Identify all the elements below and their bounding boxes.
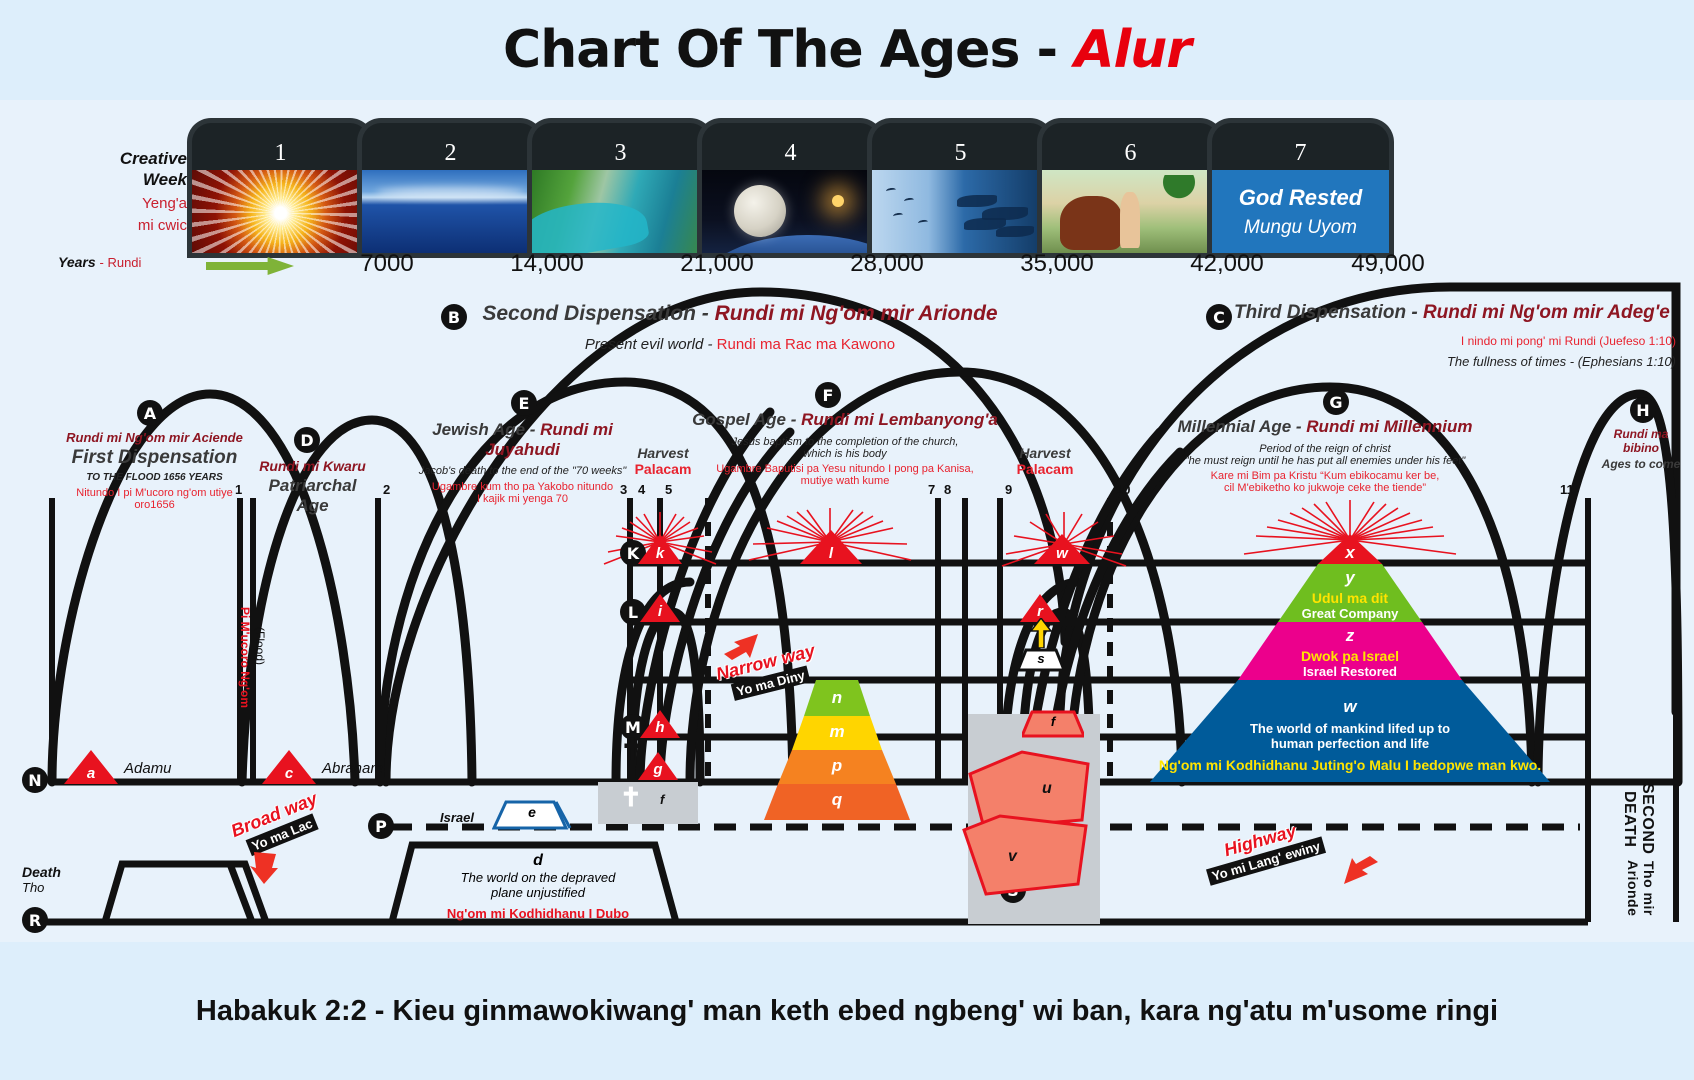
dispensation-a-title-al: Rundi mi Ng'om mir Aciende: [62, 430, 247, 445]
cross-icon-upper: ✝: [620, 736, 645, 766]
dispensation-h-text: Rundi ma bibino Ages to come: [1596, 427, 1686, 471]
cross-icon-lower: ✝: [620, 784, 642, 810]
column-number-7: 7: [928, 482, 935, 497]
harvest-label-1: Harvest Palacam: [618, 445, 708, 477]
year-tick-4: 28,000: [822, 250, 952, 278]
badge-a: A: [137, 400, 163, 426]
block-letter-v: v: [1008, 848, 1017, 866]
dispensation-e-sub-al-2: I kajik mi yenga 70: [400, 493, 645, 505]
god-rested-en: God Rested: [1239, 185, 1362, 211]
day-arch-2: 2: [357, 118, 544, 170]
creative-day-5: 5: [867, 118, 1054, 258]
dispensation-a-title-en: First Dispensation: [62, 447, 247, 469]
triangle-c-abraham: c: [262, 750, 316, 784]
gospel-band-q: q: [728, 788, 946, 812]
dispensation-c-title: Third Dispensation - Rundi mi Ng'om mir …: [1234, 302, 1684, 324]
god-rested-panel: God Rested Mungu Uyom: [1212, 170, 1389, 253]
dispensation-b-title: Second Dispensation - Rundi mi Ng'om mir…: [470, 302, 1010, 326]
millennial-pyramid: x y Udul ma dit Great Company z Dwok pa …: [1150, 534, 1550, 782]
dispensation-b-sub-al: Rundi ma Rac ma Kawono: [717, 336, 895, 353]
dispensation-a-text: Rundi mi Ng'om mir Aciende First Dispens…: [62, 430, 247, 511]
millennial-band-z-al: Dwok pa Israel: [1301, 648, 1399, 664]
triangle-k-letter: k: [656, 545, 664, 564]
dispensation-a-sub-al: Nitundo I pi M'ucoro ng'om utiye oro1656: [62, 487, 247, 511]
moon-sun-icon: [702, 170, 879, 253]
year-tick-6: 42,000: [1162, 250, 1292, 278]
gospel-pyramid: n m p q: [728, 680, 946, 820]
creation-light-icon: [192, 170, 369, 253]
badge-h: H: [1630, 397, 1656, 423]
creative-day-6: 6: [1037, 118, 1224, 258]
trapezoid-s: s: [1018, 648, 1064, 672]
dispensation-g-title-al: Rundi mi Millennium: [1306, 417, 1472, 436]
year-tick-3: 21,000: [652, 250, 782, 278]
millennial-band-y-en: Great Company: [1302, 606, 1399, 621]
millennial-band-z: z Dwok pa Israel Israel Restored: [1150, 626, 1550, 678]
broad-way-arrow-icon: [246, 850, 286, 886]
dispensation-h-title-al-2: bibino: [1596, 441, 1686, 455]
creative-week-section: Creative Week Yeng'a mi cwic 1 2 3 4: [0, 100, 1694, 290]
land-vegetation-icon: [532, 170, 709, 253]
depraved-al: Ng'om mi Kodhidhanu I Dubo: [418, 906, 658, 921]
column-number-2: 2: [383, 482, 390, 497]
triangle-i: i: [640, 594, 680, 622]
year-tick-5: 35,000: [992, 250, 1122, 278]
millennial-apex-letter: x: [1345, 543, 1354, 563]
badge-r: R: [22, 907, 48, 933]
harvest-label-2: Harvest Palacam: [1000, 445, 1090, 477]
day-image-5: [867, 170, 1054, 258]
dispensation-f-title-en: Gospel Age -: [692, 410, 801, 429]
dispensation-b-sub-en: Present evil world -: [585, 336, 717, 353]
day-number-5: 5: [872, 140, 1049, 167]
day-number-4: 4: [702, 140, 879, 167]
column-number-10: 10: [1116, 482, 1130, 497]
triangle-w-letter: w: [1056, 545, 1068, 564]
dispensation-b-title-al: Rundi mi Ng'om mir Arionde: [715, 302, 998, 325]
second-death-al: Tho mir Arionde: [1625, 856, 1657, 920]
second-death-block: SECOND DEATH Tho mir Arionde: [1598, 782, 1678, 920]
dispensation-c-sub-en: The fullness of times - (Ephesians 1:10): [1234, 354, 1684, 369]
depraved-letter: d: [418, 852, 658, 870]
dispensation-f-sub-al-1: Ugambre Baputisi pa Yesu nitundo I pong …: [690, 463, 1000, 475]
israel-label: Israel: [440, 810, 474, 825]
triangle-g-letter: g: [653, 761, 662, 780]
god-rested-al: Mungu Uyom: [1244, 217, 1357, 239]
creative-week-al-line1: Yeng'a: [82, 195, 187, 213]
column-number-3: 3: [620, 482, 627, 497]
column-number-4: 4: [638, 482, 645, 497]
column-number-11: 11: [1560, 482, 1574, 497]
harvest-1-en: Harvest: [618, 445, 708, 461]
salmon-blocks-uv: [962, 734, 1114, 924]
column-number-6: 6: [713, 482, 720, 497]
badge-n: N: [22, 767, 48, 793]
dispensation-g-sub-en-2: "he must reign until he has put all enem…: [1100, 455, 1550, 467]
block-letter-u: u: [1042, 780, 1052, 798]
highway-label: Highway Yo mi Lang' ewiny: [1195, 813, 1331, 888]
day-number-3: 3: [532, 140, 709, 167]
verse-band: Habakuk 2:2 - Kieu ginmawokiwang' man ke…: [0, 942, 1694, 1080]
depraved-en-1: The world on the depraved: [418, 870, 658, 885]
year-tick-7: 49,000: [1323, 250, 1453, 278]
millennial-band-w-en-1: The world of mankind lifed up to: [1250, 721, 1450, 736]
badge-p: P: [368, 813, 394, 839]
year-tick-1: 7000: [322, 250, 452, 278]
column-number-1: 1: [235, 482, 242, 497]
harvest-2-al: Palacam: [1000, 461, 1090, 477]
triangle-i-letter: i: [658, 603, 662, 622]
day-arch-1: 1: [187, 118, 374, 170]
main-chart-area: B Second Dispensation - Rundi mi Ng'om m…: [0, 282, 1694, 942]
day-image-1: [187, 170, 374, 258]
dispensation-f-sub-al-2: mutiye wath kume: [690, 475, 1000, 487]
day-number-2: 2: [362, 140, 539, 167]
badge-d: D: [294, 427, 320, 453]
flood-label-al: Pi M'ucoro Ng'om: [238, 607, 252, 708]
page-title: Chart Of The Ages - Alur: [503, 20, 1191, 80]
birds-fish-icon: [872, 170, 1049, 253]
dispensation-h-title-al-1: Rundi ma: [1596, 427, 1686, 441]
dispensation-f-sub-en-2: which is his body: [690, 448, 1000, 460]
dispensation-e-sub-al-1: Ugambre kum tho pa Yakobo nitundo: [400, 481, 645, 493]
badge-b: B: [441, 304, 467, 330]
millennial-apex-x: x: [1150, 542, 1550, 564]
dispensation-b-sub: Present evil world - Rundi ma Rac ma Kaw…: [470, 336, 1010, 353]
triangle-h: h: [640, 710, 680, 738]
trapezoid-e-letter: e: [492, 804, 572, 820]
gospel-band-m: m: [728, 720, 946, 744]
dispensation-c-sub-al: I nindo mi pong' mi Rundi (Juefeso 1:10): [1234, 334, 1684, 348]
day-number-1: 1: [192, 140, 369, 167]
day-arch-4: 4: [697, 118, 884, 170]
badge-f: F: [815, 382, 841, 408]
years-label-en: Years: [58, 254, 96, 270]
day-arch-5: 5: [867, 118, 1054, 170]
harvest-2-en: Harvest: [1000, 445, 1090, 461]
dispensation-a-sub-en: TO THE FLOOD 1656 YEARS: [62, 472, 247, 483]
dispensation-f-title-al: Rundi mi Lembanyong'a: [801, 410, 998, 429]
day-arch-6: 6: [1037, 118, 1224, 170]
day-image-3: [527, 170, 714, 258]
death-al: Tho: [22, 880, 61, 895]
title-accent: Alur: [1074, 20, 1191, 80]
millennial-band-z-en: Israel Restored: [1303, 664, 1397, 679]
creative-week-al-line2: mi cwic: [82, 217, 187, 235]
death-en: Death: [22, 864, 61, 880]
dispensation-e-sub-en: Jacob's death to the end of the "70 week…: [400, 465, 645, 477]
triangle-h-letter: h: [655, 719, 664, 738]
dispensation-f-sub-en-1: Jesus baptism to the completion of the c…: [690, 436, 1000, 448]
millennial-band-z-letter: z: [1346, 626, 1355, 646]
column-number-8: 8: [944, 482, 951, 497]
creative-day-1: 1: [187, 118, 374, 258]
dispensation-c-title-al: Rundi mi Ng'om mir Adeg'e: [1423, 302, 1670, 323]
dispensation-b-title-en: Second Dispensation -: [482, 302, 714, 325]
depraved-en-2: plane unjustified: [418, 885, 658, 900]
dispensation-g-sub-en-1: Period of the reign of christ: [1100, 443, 1550, 455]
narrow-way-arrow-icon: [722, 632, 760, 662]
year-tick-2: 14,000: [482, 250, 612, 278]
millennial-band-y-al: Udul ma dit: [1312, 590, 1388, 606]
column-number-9: 9: [1005, 482, 1012, 497]
trapezoid-s-letter: s: [1018, 651, 1064, 666]
triangle-a-adamu: a: [64, 750, 118, 784]
dispensation-c-title-en: Third Dispensation -: [1234, 302, 1423, 323]
dispensation-h-title-en: Ages to come: [1596, 457, 1686, 471]
dispensation-g-title: Millennial Age - Rundi mi Millennium: [1100, 417, 1550, 437]
flood-label-en: (Flood): [253, 627, 267, 665]
dispensation-g-text: Millennial Age - Rundi mi Millennium Per…: [1100, 417, 1550, 494]
ocean-sky-icon: [362, 170, 539, 253]
creative-day-2: 2: [357, 118, 544, 258]
badge-c: C: [1206, 304, 1232, 330]
triangle-a-letter: a: [87, 765, 95, 784]
millennial-band-w-al: Ng'om mi Kodhidhanu Juting'o Malu I bedo…: [1159, 757, 1541, 773]
years-label-al: - Rundi: [100, 255, 142, 270]
triangle-l-letter: l: [829, 545, 833, 564]
title-band: Chart Of The Ages - Alur: [0, 0, 1694, 100]
adam-animals-icon: [1042, 170, 1219, 253]
day-image-2: [357, 170, 544, 258]
millennial-band-w: w The world of mankind lifed up to human…: [1150, 692, 1550, 778]
day-number-7: 7: [1212, 140, 1389, 167]
grey-block-letter-f: f: [660, 792, 664, 807]
title-main: Chart Of The Ages -: [503, 20, 1074, 80]
creative-week-en-line2: Week: [82, 169, 187, 190]
millennial-band-y-letter: y: [1345, 568, 1354, 588]
grey-block-left: [598, 782, 698, 824]
dispensation-f-title: Gospel Age - Rundi mi Lembanyong'a: [690, 410, 1000, 430]
day-image-4: [697, 170, 884, 258]
triangle-l: l: [800, 530, 862, 564]
dispensation-f-text: Gospel Age - Rundi mi Lembanyong'a Jesus…: [690, 410, 1000, 487]
years-arrow-icon: [206, 257, 294, 275]
day-arch-7: 7: [1207, 118, 1394, 170]
verse-text: Habakuk 2:2 - Kieu ginmawokiwang' man ke…: [196, 995, 1498, 1028]
creative-week-en-line1: Creative: [82, 148, 187, 169]
highway-arrow-icon: [1340, 852, 1380, 886]
yellow-up-arrow-icon: [1030, 618, 1052, 648]
day-image-6: [1037, 170, 1224, 258]
day-number-6: 6: [1042, 140, 1219, 167]
dispensation-d-title-al: Rundi mi Kwaru: [255, 458, 370, 474]
millennial-band-w-letter: w: [1343, 697, 1356, 717]
dispensation-e-title-en: Jewish Age -: [432, 420, 540, 439]
day-arch-3: 3: [527, 118, 714, 170]
triangle-c-letter: c: [285, 765, 293, 784]
badge-e: E: [511, 390, 537, 416]
years-label: Years - Rundi: [58, 254, 141, 270]
chart-of-the-ages-page: Chart Of The Ages - Alur Creative Week Y…: [0, 0, 1694, 1080]
badge-g: G: [1323, 389, 1349, 415]
dispensation-e-title: Jewish Age - Rundi mi Juyahudi: [400, 420, 645, 460]
dispensation-g-sub-al-2: cil M'ebiketho ko jukwoje ceke the tiend…: [1100, 482, 1550, 494]
label-abraham: Abraham: [322, 760, 383, 777]
creative-day-3: 3: [527, 118, 714, 258]
dispensation-d-text: Rundi mi Kwaru Patriarchal Age: [255, 458, 370, 516]
dispensation-g-title-en: Millennial Age -: [1178, 417, 1307, 436]
label-adamu: Adamu: [124, 760, 172, 777]
triangle-k: k: [638, 534, 682, 564]
dispensation-c-text: Third Dispensation - Rundi mi Ng'om mir …: [1234, 302, 1684, 369]
dispensation-b-text: Second Dispensation - Rundi mi Ng'om mir…: [470, 302, 1010, 353]
creative-day-4: 4: [697, 118, 884, 258]
gospel-band-p: p: [728, 754, 946, 778]
trapezoid-f-letter: f: [1022, 714, 1084, 729]
triangle-w-harvest: w: [1034, 534, 1090, 564]
column-number-5: 5: [665, 482, 672, 497]
dispensation-g-sub-al-1: Kare mi Bim pa Kristu “Kum ebikocamu ker…: [1100, 470, 1550, 482]
harvest-1-al: Palacam: [618, 461, 708, 477]
second-death-en: SECOND DEATH: [1620, 782, 1656, 856]
millennial-band-w-en-2: human perfection and life: [1271, 736, 1429, 751]
depraved-world-text: d The world on the depraved plane unjust…: [418, 852, 658, 921]
day-image-7: God Rested Mungu Uyom: [1207, 170, 1394, 258]
death-label: Death Tho: [22, 864, 61, 895]
dispensation-e-text: Jewish Age - Rundi mi Juyahudi Jacob's d…: [400, 420, 645, 505]
creative-day-7: 7 God Rested Mungu Uyom: [1207, 118, 1394, 258]
dispensation-d-title-en: Patriarchal Age: [255, 476, 370, 516]
creative-week-label: Creative Week Yeng'a mi cwic: [82, 148, 187, 235]
trapezoid-e-israel: e: [492, 800, 572, 830]
millennial-band-y: y Udul ma dit Great Company: [1150, 568, 1550, 620]
